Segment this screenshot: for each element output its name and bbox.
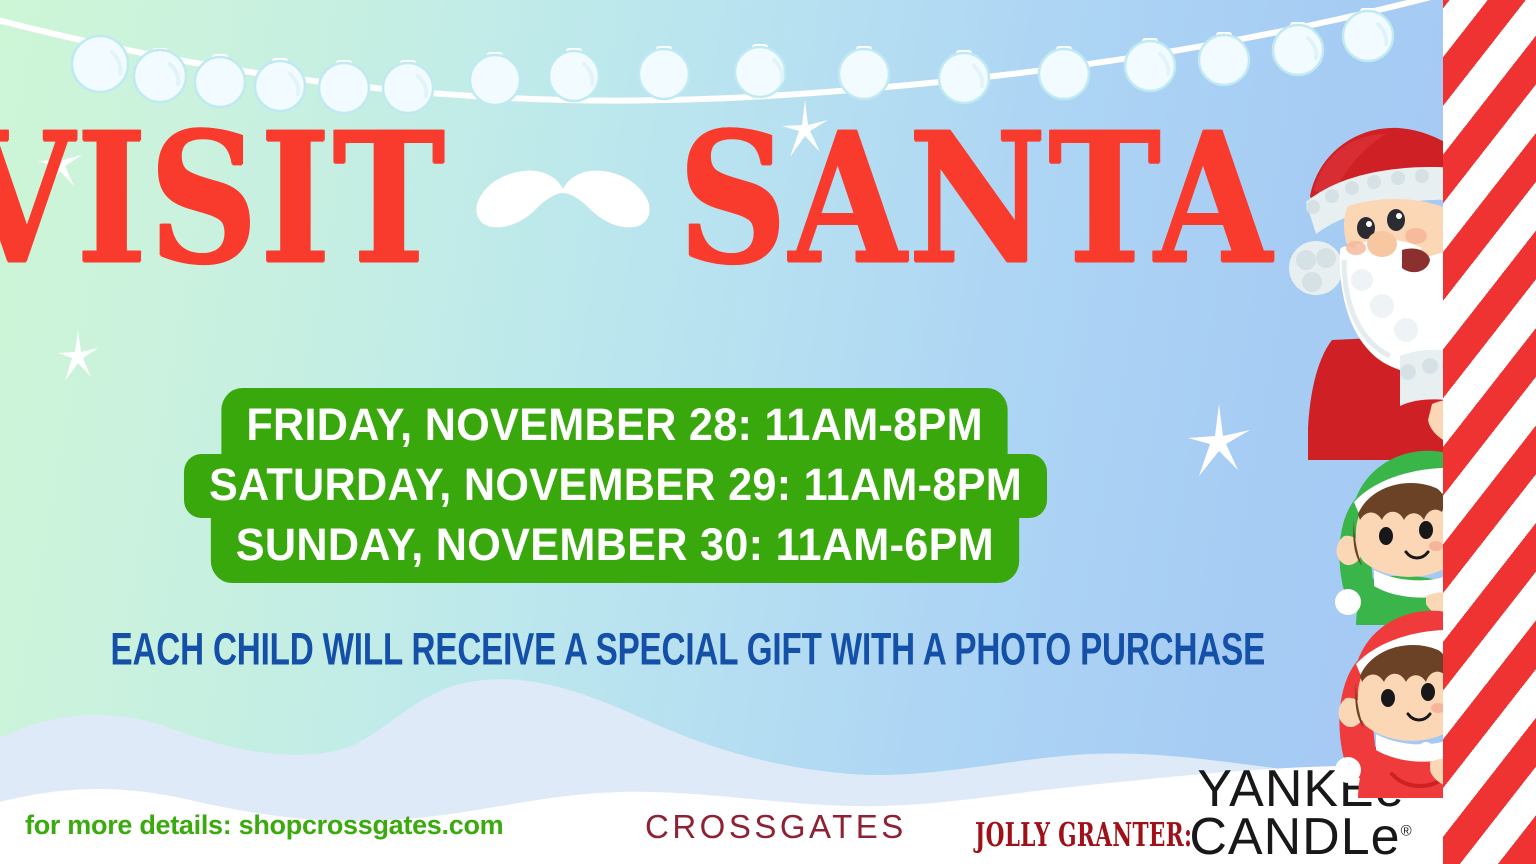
mustache-icon (468, 159, 658, 239)
crossgates-logo: CROSSGATES (645, 808, 907, 846)
page-title: VISIT SANTA (0, 126, 1230, 271)
schedule-line-friday: FRIDAY, NOVEMBER 28: 11AM-8PM (222, 388, 1008, 458)
gift-tagline: EACH CHILD WILL RECEIVE A SPECIAL GIFT W… (111, 625, 1190, 676)
santa-event-banner: VISIT SANTA FRIDAY, NOVEMBER 28: 11AM-8P… (0, 0, 1536, 864)
candy-stripe-panel (1443, 0, 1536, 864)
schedule-line-saturday: SATURDAY, NOVEMBER 29: 11AM-8PM (183, 454, 1046, 518)
schedule-line-sunday: SUNDAY, NOVEMBER 30: 11AM-6PM (211, 514, 1019, 583)
jolly-granter-label: JOLLY GRANTER: (975, 816, 1192, 855)
santa-character (1282, 110, 1457, 460)
details-url[interactable]: for more details: shopcrossgates.com (25, 810, 503, 841)
registered-mark-icon: ® (1401, 823, 1413, 840)
schedule-box: FRIDAY, NOVEMBER 28: 11AM-8PM SATURDAY, … (0, 388, 1230, 583)
yankee-candle-line2: CANDLe (1189, 808, 1400, 864)
sparkle-icon (58, 330, 98, 384)
headline-word-santa: SANTA (678, 110, 1274, 287)
headline-word-visit: VISIT (0, 110, 447, 287)
